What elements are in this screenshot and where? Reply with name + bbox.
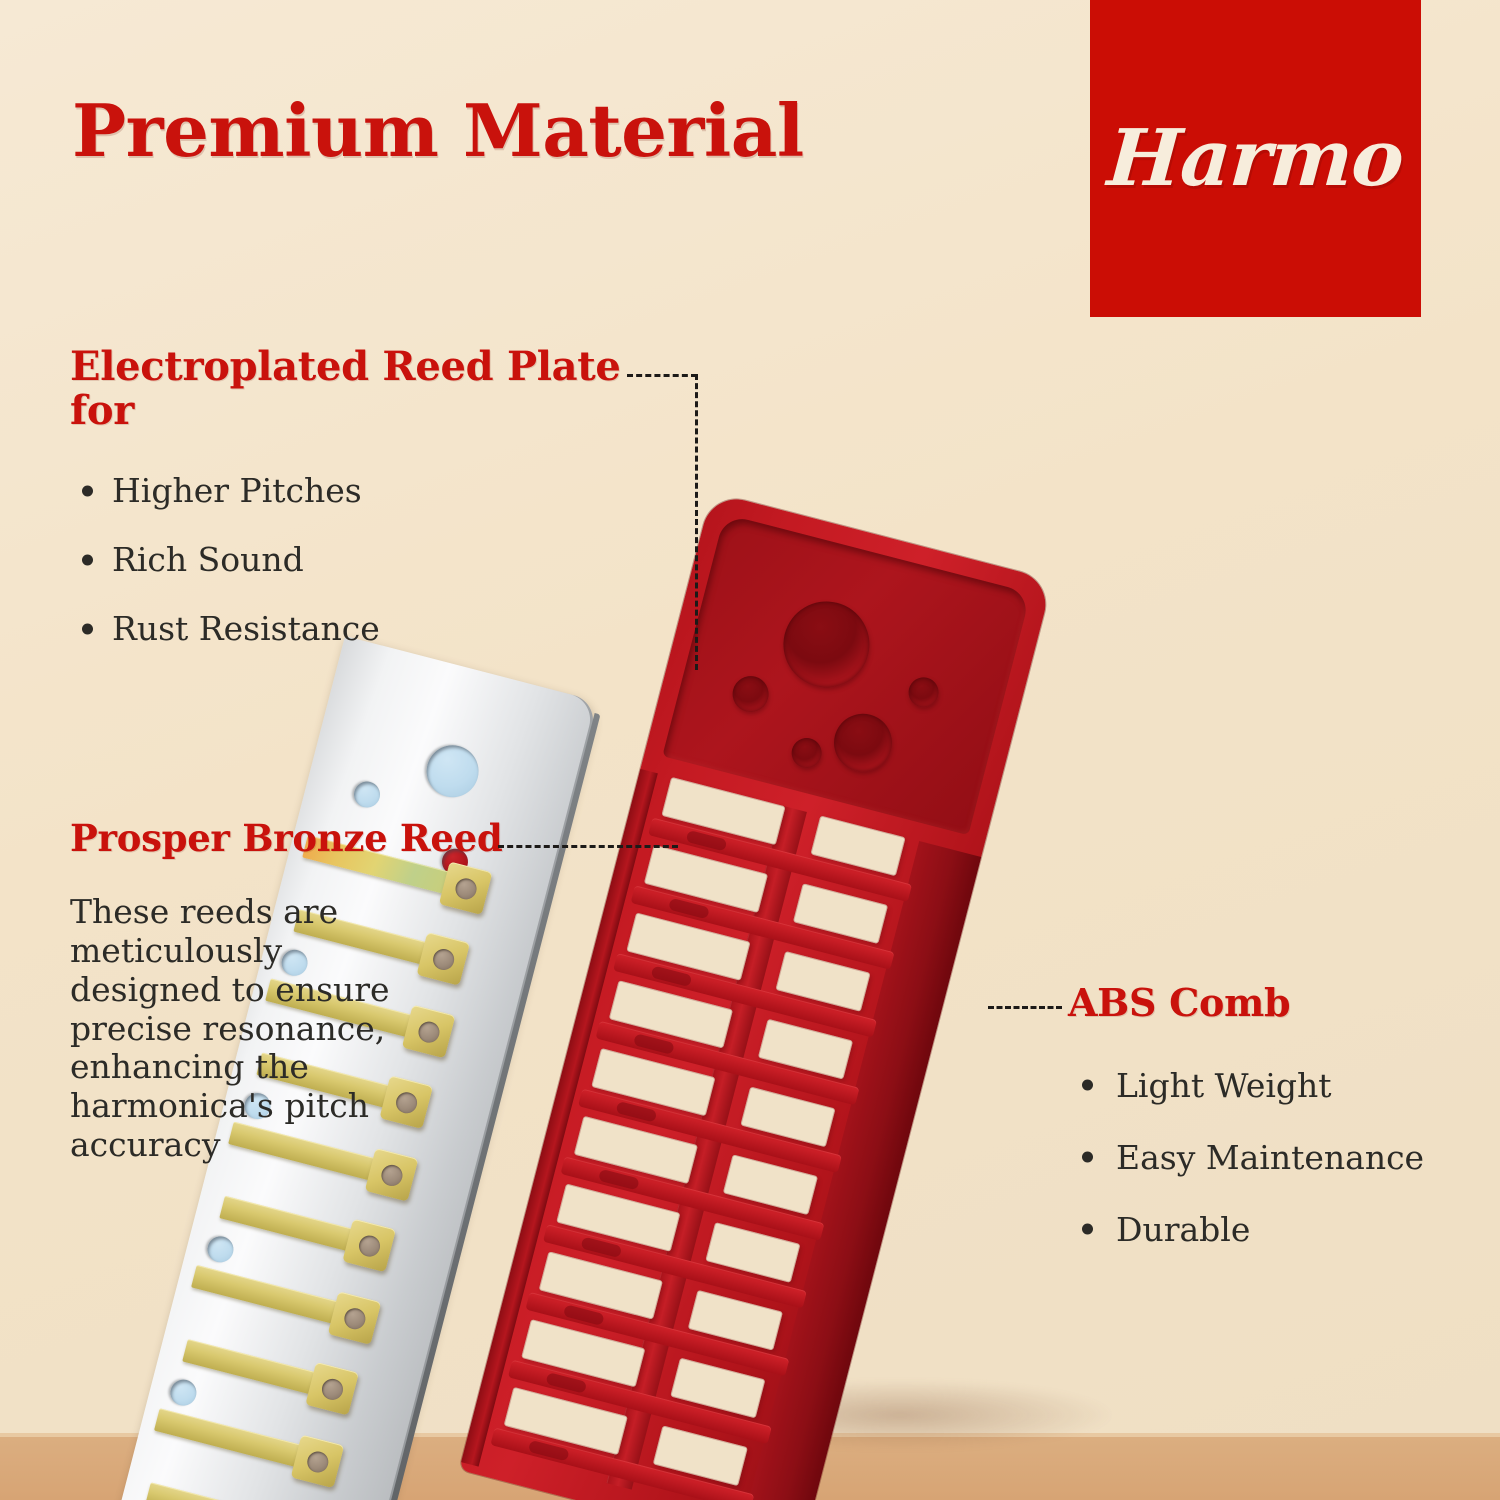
callout-reed-plate-bullets: Higher Pitches Rich Sound Rust Resistanc…: [70, 471, 690, 648]
callout-abs-comb-bullets: Light Weight Easy Maintenance Durable: [1068, 1066, 1468, 1249]
callout-abs-comb-heading: ABS Comb: [1068, 982, 1468, 1024]
bullet-dot-icon: [1082, 1080, 1093, 1091]
leader-line-reed-plate-horizontal: [627, 374, 697, 377]
callout-bronze-reed: Prosper Bronze Reed These reeds are meti…: [70, 818, 520, 1165]
bullet-dot-icon: [82, 623, 93, 634]
comb-boss-large: [774, 592, 879, 697]
list-item-label: Easy Maintenance: [1116, 1138, 1424, 1177]
brand-logo-text: Harmo: [1105, 113, 1406, 204]
brand-logo: Harmo: [1090, 0, 1421, 317]
list-item: Rust Resistance: [70, 609, 690, 648]
infographic-canvas: Premium Material Harmo Electroplated Ree…: [0, 0, 1500, 1500]
list-item-label: Rich Sound: [112, 540, 304, 579]
comb-boss-small-left: [729, 672, 773, 716]
leader-line-abs-comb: [988, 1006, 1062, 1009]
callout-reed-plate-heading: Electroplated Reed Plate for: [70, 345, 690, 433]
bullet-dot-icon: [1082, 1152, 1093, 1163]
list-item: Light Weight: [1068, 1066, 1468, 1105]
comb-boss-small-right: [905, 674, 942, 711]
leader-line-bronze-reed: [498, 845, 678, 848]
list-item: Easy Maintenance: [1068, 1138, 1468, 1177]
list-item-label: Rust Resistance: [112, 609, 380, 648]
list-item: Durable: [1068, 1210, 1468, 1249]
list-item: Rich Sound: [70, 540, 690, 579]
callout-bronze-reed-heading: Prosper Bronze Reed: [70, 818, 520, 859]
callout-abs-comb: ABS Comb Light Weight Easy Maintenance D…: [1068, 982, 1468, 1249]
bullet-dot-icon: [82, 554, 93, 565]
list-item-label: Higher Pitches: [112, 471, 362, 510]
list-item-label: Durable: [1116, 1210, 1250, 1249]
callout-bronze-reed-body: These reeds are meticulously designed to…: [70, 893, 425, 1166]
bullet-dot-icon: [82, 485, 93, 496]
list-item-label: Light Weight: [1116, 1066, 1332, 1105]
bullet-dot-icon: [1082, 1224, 1093, 1235]
page-title: Premium Material: [72, 88, 804, 173]
callout-reed-plate: Electroplated Reed Plate for Higher Pitc…: [70, 345, 690, 648]
leader-line-reed-plate-vertical: [695, 374, 698, 670]
comb-boss-medium: [828, 707, 899, 778]
comb-boss-small-lower: [788, 735, 825, 772]
list-item: Higher Pitches: [70, 471, 690, 510]
